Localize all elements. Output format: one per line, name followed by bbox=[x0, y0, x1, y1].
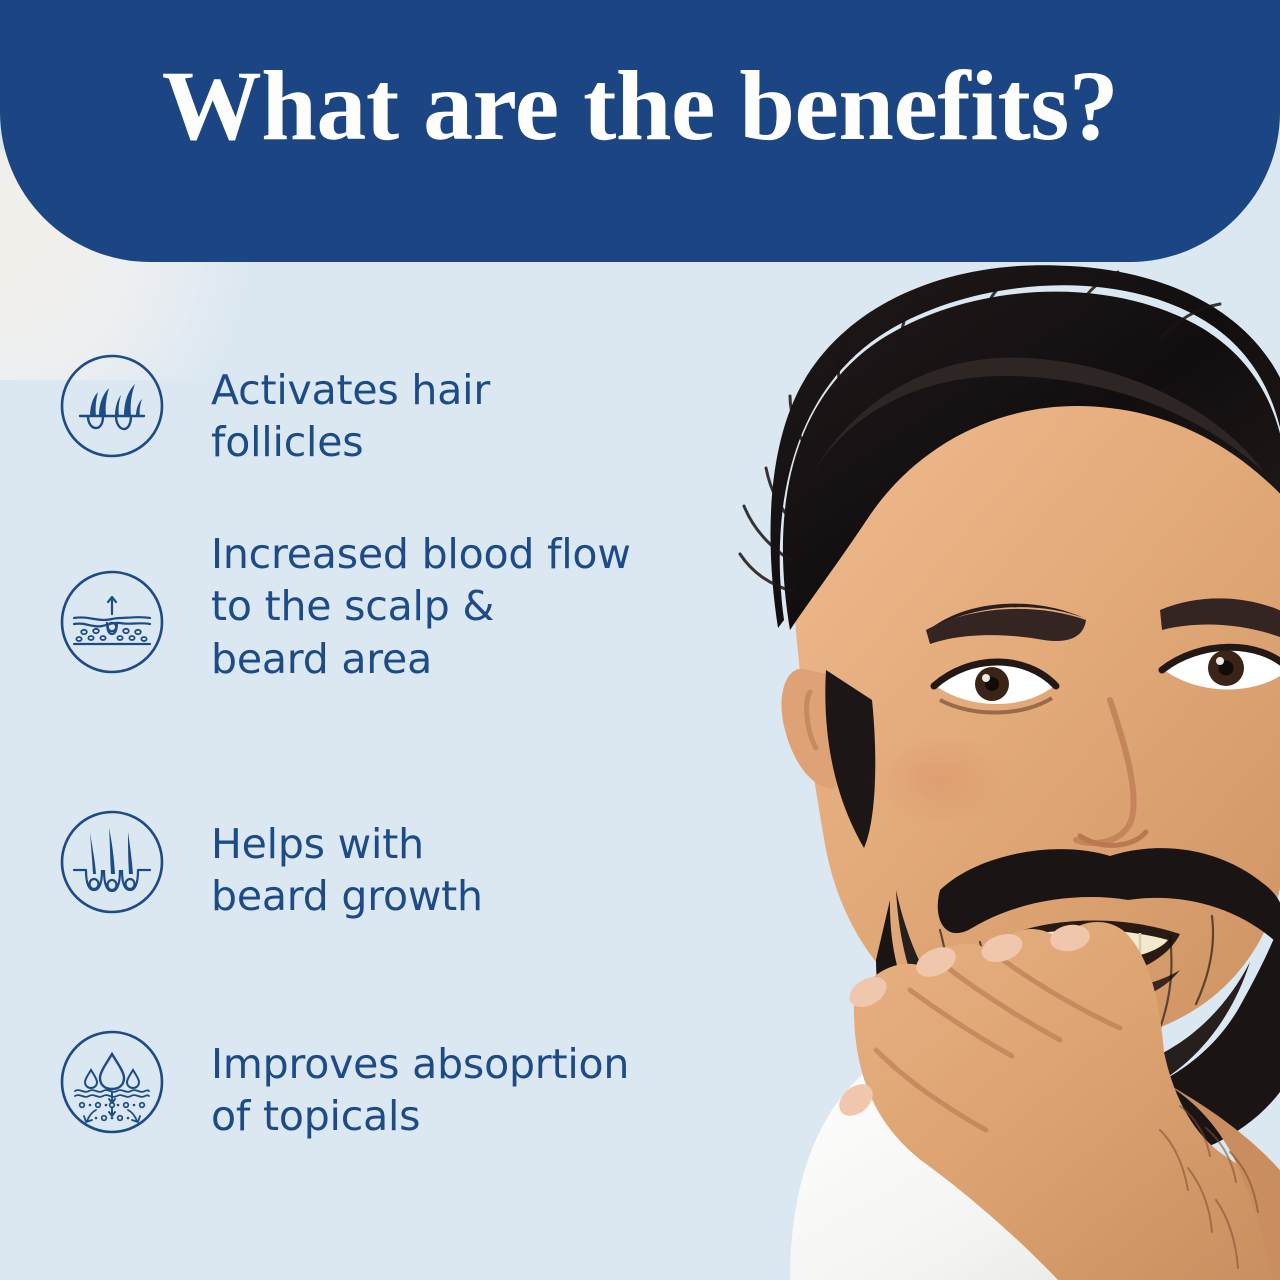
benefit-label: Improves absoprtion of topicals bbox=[211, 1038, 629, 1143]
benefit-label: Increased blood flow to the scalp & bear… bbox=[211, 528, 631, 685]
skin-blood-flow-icon bbox=[58, 568, 166, 676]
benefit-item-increased-blood-flow: Increased blood flow to the scalp & bear… bbox=[58, 568, 631, 685]
beard-growth-follicle-icon bbox=[58, 808, 166, 916]
infographic-canvas: What are the benefits? Activates hair fo… bbox=[0, 0, 1280, 1280]
benefit-item-activates-hair-follicles: Activates hair follicles bbox=[58, 352, 490, 469]
benefit-label: Activates hair follicles bbox=[211, 364, 490, 469]
header-banner: What are the benefits? bbox=[0, 0, 1280, 262]
benefit-item-improves-absorption: Improves absoprtion of topicals bbox=[58, 1028, 629, 1143]
hair-follicles-icon bbox=[58, 352, 166, 460]
topical-absorption-droplet-icon bbox=[58, 1028, 166, 1136]
benefit-label: Helps with beard growth bbox=[211, 818, 483, 923]
benefit-item-helps-beard-growth: Helps with beard growth bbox=[58, 808, 483, 923]
hero-photo bbox=[640, 200, 1280, 1280]
page-title: What are the benefits? bbox=[0, 56, 1280, 156]
